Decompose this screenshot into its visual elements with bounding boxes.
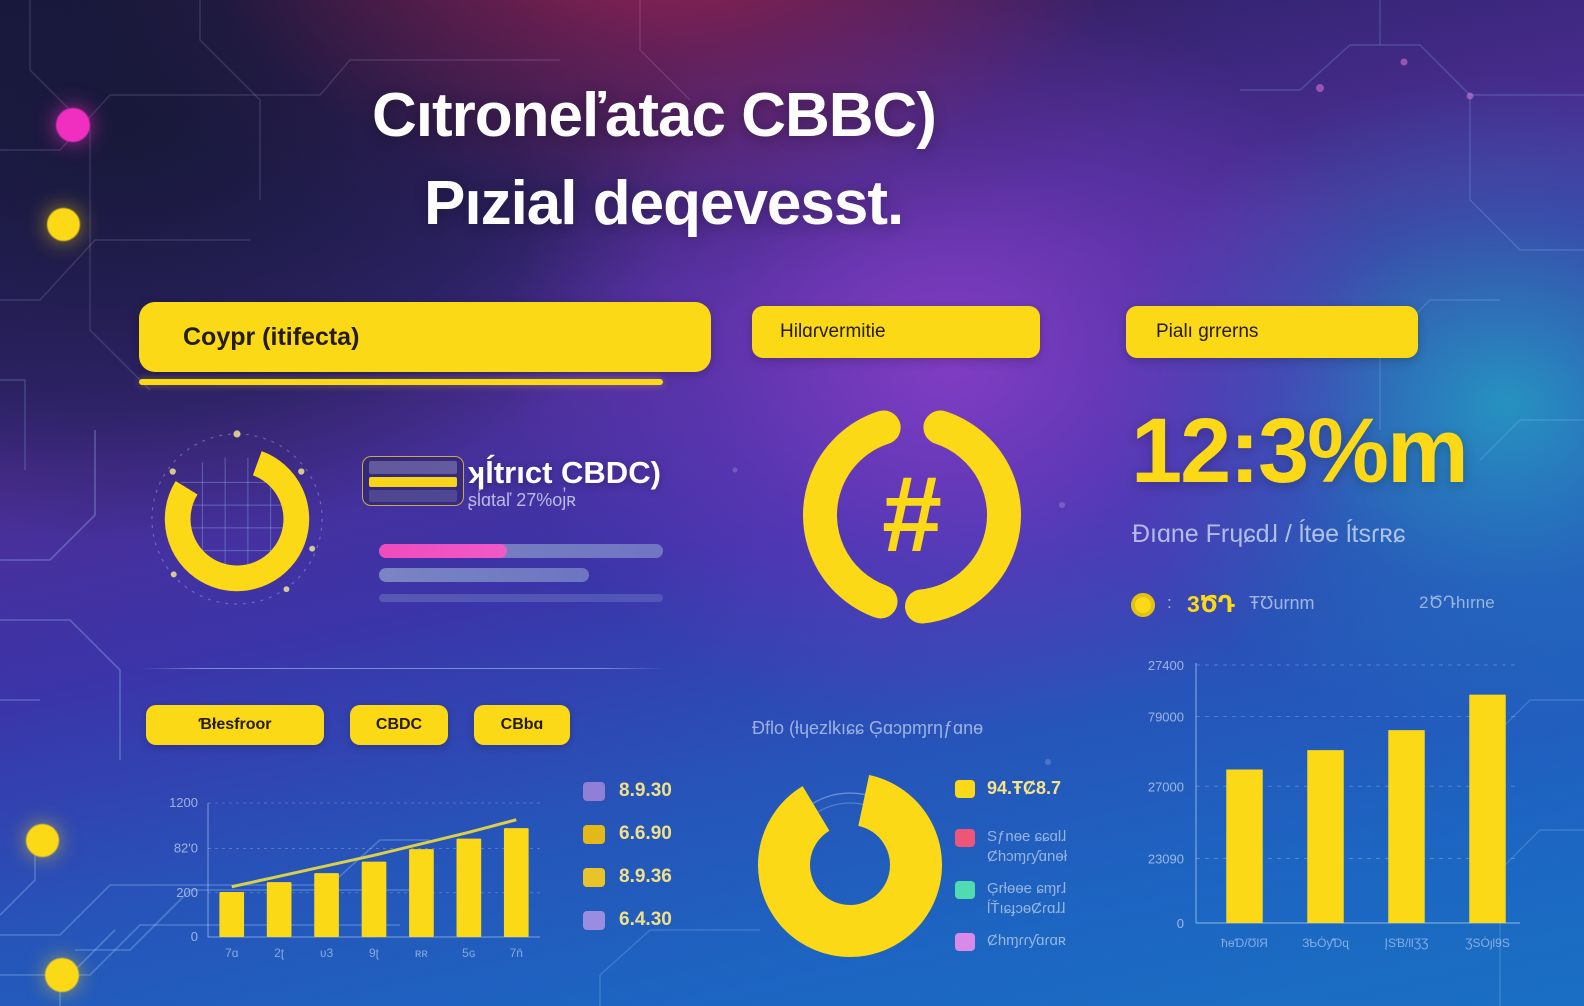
y-axis-tick: 79000 — [1148, 710, 1184, 725]
badge-yellow-bar — [369, 477, 457, 487]
legend-item[interactable]: 94.ŦȻ8.7 — [955, 778, 1067, 799]
bar — [362, 862, 387, 937]
bar-chart-growth: 020082'01200 7ɑ2ʈʋ39ʈʀʀ5ɢ7ň — [150, 785, 550, 965]
decor-dot-yellow-top — [47, 208, 80, 241]
legend-swatch — [955, 829, 975, 847]
donut-chart-composition — [745, 760, 955, 970]
bar — [267, 882, 292, 937]
legend-label: Ģrƚɵɵe ɕɱrɺ ĺŤıɕɟɔɵȻɾɑɺɺ — [987, 879, 1066, 919]
legend-label: 6.6.90 — [619, 823, 672, 845]
legend-swatch — [955, 780, 975, 798]
hash-glyph: # — [882, 453, 942, 574]
y-axis-tick: 82'0 — [174, 841, 198, 856]
bar — [219, 892, 244, 937]
tab-button-1[interactable]: CBDC — [350, 705, 448, 745]
stat-label-2: 2ԾԴhırne — [1419, 593, 1495, 613]
x-axis-tick: ĮЅƁ/ƖƖƷƷ — [1385, 936, 1429, 950]
x-axis-tick: ƷЅȮȷƖ9Ѕ — [1465, 936, 1510, 950]
decor-dot-yellow-lower — [26, 824, 59, 857]
x-axis-tick: ʀʀ — [415, 946, 428, 960]
legend-swatch — [583, 911, 605, 930]
y-axis-tick: 27000 — [1148, 779, 1184, 794]
x-axis-tick: ЗƄȮƴƊɋ — [1302, 936, 1350, 950]
left-panel-divider — [140, 668, 664, 669]
title-line-2: Pızial deqevesst. — [424, 160, 1292, 248]
bar-chart-volume: 023090270007900027400 ħɵƊ/ƱƖЯЗƄȮƴƊɋĮЅƁ/Ɩ… — [1118, 645, 1530, 965]
progress-bar-primary[interactable] — [379, 544, 663, 558]
legend-item[interactable]: 6.6.90 — [583, 823, 672, 845]
legend-swatch — [583, 825, 605, 844]
legend-swatch — [955, 881, 975, 899]
kpi-subtitle: ʂĺɑtaľ 27%oȷ̓ʀ — [468, 490, 576, 511]
y-axis-tick: 23090 — [1148, 852, 1184, 867]
stat-colon: : — [1167, 593, 1172, 613]
bar — [314, 873, 339, 937]
ring-gauge-chart — [148, 428, 326, 610]
legend-label: 8.9.30 — [619, 780, 672, 802]
x-axis-tick: 9ʈ — [369, 946, 380, 960]
hero-tab-button[interactable]: Coypr (itifecta) — [139, 302, 711, 372]
x-axis-tick: ħɵƊ/ƱƖЯ — [1221, 936, 1268, 950]
bar — [1226, 769, 1262, 923]
y-axis-tick: 200 — [176, 885, 198, 900]
headline-metric-subtitle: Ɖıɑne Frɥɕdɺ / ĺtɵe ĺtsɾʀɕ — [1132, 520, 1405, 549]
kpi-title: ʞĺtrıct CBDC) — [468, 455, 661, 491]
donut-chart-legend: 94.ŦȻ8.7 Ѕƒnɵe ɕɕɑlɺ Ȼhɔɱɾƴɑnɵł Ģrƚɵɵe ɕ… — [955, 778, 1067, 961]
x-axis-tick: ʋ3 — [320, 946, 334, 960]
bar — [1388, 730, 1424, 923]
right-section-button[interactable]: Pialı grrerns — [1126, 306, 1418, 358]
y-axis-tick: 0 — [1177, 916, 1184, 931]
legend-item[interactable]: Ѕƒnɵe ɕɕɑlɺ Ȼhɔɱɾƴɑnɵł — [955, 827, 1067, 867]
x-axis-tick: 5ɢ — [462, 946, 475, 960]
bar — [1307, 750, 1343, 923]
decor-dot-yellow-bottom — [45, 958, 79, 992]
x-axis-tick: 7ň — [510, 946, 523, 960]
progress-fill-primary — [379, 544, 507, 558]
badge-top-bar — [369, 461, 457, 474]
tab-button-0[interactable]: Ɓłesfroor — [146, 705, 324, 745]
bar — [504, 828, 529, 937]
infographic-canvas: Cıtroneľatac CBBC) Pızial deqevesst. Coy… — [0, 0, 1584, 1006]
decor-dot-pink — [56, 108, 90, 142]
bar — [409, 849, 434, 937]
title-line-1: Cıtroneľatac CBBC) — [372, 72, 1292, 160]
legend-swatch — [955, 933, 975, 951]
badge-bottom-bar — [369, 490, 457, 502]
legend-label: 94.ŦȻ8.7 — [987, 778, 1061, 799]
donut-chart-title: Ɖflo (ƚɥezlkıɕɕ Ģɑɔpɱrƞƒɑnɵ — [752, 718, 983, 739]
legend-label: Ȼhɱɾɾƴɑɾɑʀ — [987, 931, 1066, 951]
bar-chart-legend: 8.9.30 6.6.90 8.9.36 6.4.30 — [583, 780, 672, 952]
y-axis-tick: 27400 — [1148, 658, 1184, 673]
x-axis-tick: 2ʈ — [274, 946, 285, 960]
stat-value: 3ԾԴ — [1187, 591, 1235, 618]
y-axis-tick: 1200 — [169, 795, 198, 810]
page-title: Cıtroneľatac CBBC) Pızial deqevesst. — [372, 72, 1292, 248]
progress-bar-tertiary[interactable] — [379, 594, 663, 602]
legend-label: 8.9.36 — [619, 866, 672, 888]
legend-label: 6.4.30 — [619, 909, 672, 931]
coin-icon — [1131, 593, 1155, 617]
progress-bar-secondary[interactable] — [379, 568, 589, 582]
headline-metric-value: 12:3%m — [1131, 405, 1467, 497]
legend-item[interactable]: 8.9.30 — [583, 780, 672, 802]
legend-item[interactable]: 6.4.30 — [583, 909, 672, 931]
hero-tab-underline — [139, 379, 663, 385]
secondary-stat-row: : 3ԾԴ ŦƱurnm 2ԾԴhırne — [1131, 590, 1511, 620]
stat-label-1: ŦƱurnm — [1249, 593, 1314, 614]
tab-button-2[interactable]: CBbɑ — [474, 705, 570, 745]
mini-indicator-badge — [362, 456, 464, 506]
y-axis-tick: 0 — [191, 929, 198, 944]
x-axis-tick: 7ɑ — [225, 946, 238, 960]
bar — [457, 839, 482, 937]
legend-item[interactable]: 8.9.36 — [583, 866, 672, 888]
legend-item[interactable]: Ģrƚɵɵe ɕɱrɺ ĺŤıɕɟɔɵȻɾɑɺɺ — [955, 879, 1067, 919]
legend-label: Ѕƒnɵe ɕɕɑlɺ Ȼhɔɱɾƴɑnɵł — [987, 827, 1067, 867]
hash-ring-chart: # — [790, 393, 1034, 637]
legend-item[interactable]: Ȼhɱɾɾƴɑɾɑʀ — [955, 931, 1067, 951]
bar — [1469, 695, 1505, 923]
middle-section-button[interactable]: Hilɑɾvermitie — [752, 306, 1040, 358]
legend-swatch — [583, 868, 605, 887]
legend-swatch — [583, 782, 605, 801]
